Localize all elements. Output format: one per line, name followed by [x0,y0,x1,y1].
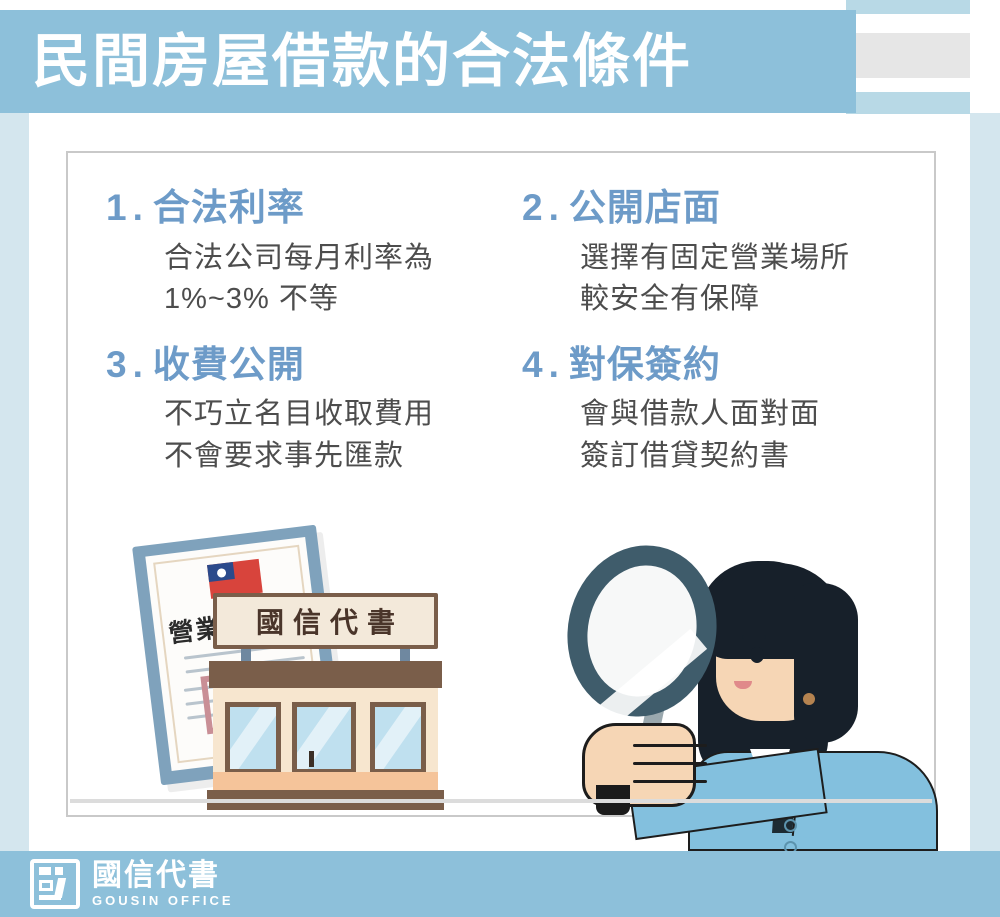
storefront-awning [209,661,442,688]
list-item-4-dot: . [549,344,559,387]
list-item-1-heading: 1 . 合法利率 [106,187,498,230]
list-item-1-dot: . [133,187,143,230]
list-item-1-number: 1 [106,187,127,230]
list-item-2-dot: . [549,187,559,230]
gousin-logo-icon [30,859,80,909]
person-with-magnifier-illustration [538,523,934,823]
side-band-right [970,113,1000,851]
title-bar: 民間房屋借款的合法條件 [0,10,856,113]
brand-text: 國信代書 GOUSIN OFFICE [92,860,234,909]
decorative-stripe-blue-bottom [846,92,970,114]
list-item-1-line-1: 合法公司每月利率為 [164,238,498,279]
eye [750,647,764,663]
content-box: 1 . 合法利率 合法公司每月利率為 1%~3% 不等 2 . 公開店面 選擇有… [66,151,936,817]
storefront-window-right [370,702,426,774]
list-item-2: 2 . 公開店面 選擇有固定營業場所 較安全有保障 [508,187,914,320]
conditions-list: 1 . 合法利率 合法公司每月利率為 1%~3% 不等 2 . 公開店面 選擇有… [92,187,914,477]
list-item-3-line-2: 不會要求事先匯款 [164,436,498,477]
list-item-3: 3 . 收費公開 不巧立名目收取費用 不會要求事先匯款 [92,344,498,477]
list-item-4-title: 對保簽約 [569,344,721,387]
list-item-3-heading: 3 . 收費公開 [106,344,498,387]
storefront-window-left [225,702,281,774]
list-item-4-line-2: 簽訂借貸契約書 [580,436,914,477]
page-title: 民間房屋借款的合法條件 [32,33,692,91]
list-item-3-body: 不巧立名目收取費用 不會要求事先匯款 [164,394,498,476]
list-item-4-line-1: 會與借款人面對面 [580,394,914,435]
suit-button-1 [784,819,797,832]
list-item-1-body: 合法公司每月利率為 1%~3% 不等 [164,238,498,320]
list-item-2-title: 公開店面 [569,187,721,230]
list-item-2-line-1: 選擇有固定營業場所 [580,238,914,279]
decorative-stripe-blue-top [846,0,970,14]
storefront-signboard: 國信代書 [213,593,438,649]
list-item-3-line-1: 不巧立名目收取費用 [164,394,498,435]
storefront-body [213,688,438,810]
list-item-4: 4 . 對保簽約 會與借款人面對面 簽訂借貸契約書 [508,344,914,477]
decorative-stripe-gray [846,33,970,78]
brand-name-en: GOUSIN OFFICE [92,893,234,908]
list-item-2-number: 2 [522,187,543,230]
illustration-area: 營業許可證 國信代書 [68,535,934,815]
eyebrow [742,635,766,639]
brand-logo: 國信代書 GOUSIN OFFICE [30,859,234,909]
list-item-2-heading: 2 . 公開店面 [522,187,914,230]
footer-bar: 國信代書 GOUSIN OFFICE [0,851,1000,917]
list-item-3-number: 3 [106,344,127,387]
hair-side [794,583,858,743]
list-item-3-dot: . [133,344,143,387]
storefront-sign-text: 國信代書 [247,601,404,641]
brand-name-cn: 國信代書 [92,860,234,892]
list-item-4-body: 會與借款人面對面 簽訂借貸契約書 [580,394,914,476]
ground-line [70,799,932,803]
storefront-kickplate [213,772,438,790]
storefront-icon: 國信代書 [213,593,438,815]
list-item-1: 1 . 合法利率 合法公司每月利率為 1%~3% 不等 [92,187,498,320]
list-item-2-body: 選擇有固定營業場所 較安全有保障 [580,238,914,320]
list-item-4-number: 4 [522,344,543,387]
infographic-page: 民間房屋借款的合法條件 1 . 合法利率 合法公司每月利率為 1%~3% 不等 … [0,0,1000,917]
side-band-left [0,113,29,851]
door-handle-icon [309,751,314,767]
earring [803,693,815,705]
list-item-1-line-2: 1%~3% 不等 [164,279,498,320]
list-item-4-heading: 4 . 對保簽約 [522,344,914,387]
list-item-1-title: 合法利率 [153,187,305,230]
list-item-3-title: 收費公開 [153,344,305,387]
list-item-2-line-2: 較安全有保障 [580,279,914,320]
